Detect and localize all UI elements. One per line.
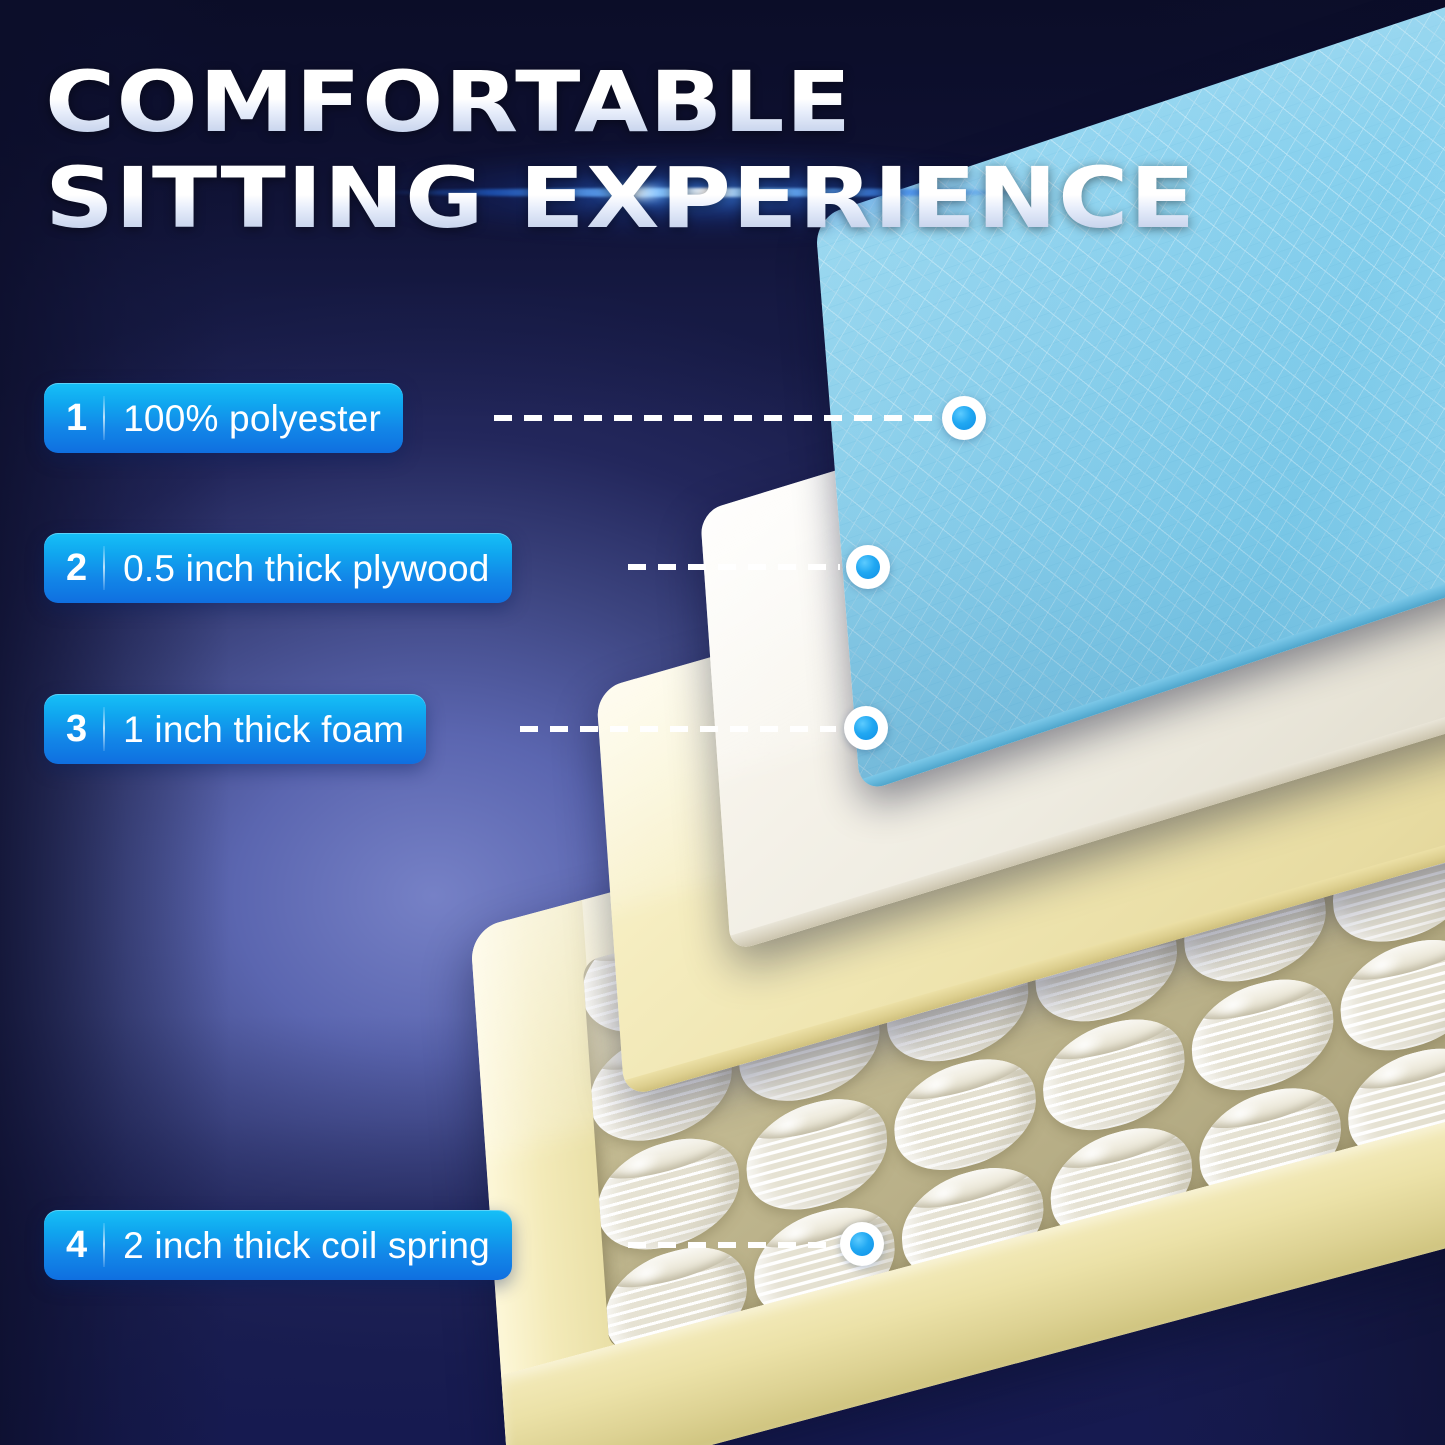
callout-badge-1[interactable]: 1 100% polyester: [44, 383, 403, 453]
callout-2[interactable]: 2 0.5 inch thick plywood: [44, 533, 512, 603]
callout-4[interactable]: 4 2 inch thick coil spring: [44, 1210, 512, 1280]
product-infographic: COMFORTABLE SITTING EXPERIENCE 1 100% po…: [0, 0, 1445, 1445]
callout-marker-4[interactable]: [840, 1222, 884, 1266]
callout-badge-4[interactable]: 4 2 inch thick coil spring: [44, 1210, 512, 1280]
callout-label-4: 2 inch thick coil spring: [123, 1227, 490, 1264]
callout-badge-2[interactable]: 2 0.5 inch thick plywood: [44, 533, 512, 603]
callout-list: 1 100% polyester 2 0.5 inch thick plywoo…: [0, 0, 1445, 1445]
callout-1[interactable]: 1 100% polyester: [44, 383, 403, 453]
callout-number-2: 2: [64, 549, 103, 587]
callout-divider: [103, 1223, 105, 1267]
callout-connector-1: [494, 415, 936, 421]
callout-number-1: 1: [64, 399, 103, 437]
callout-divider: [103, 396, 105, 440]
callout-badge-3[interactable]: 3 1 inch thick foam: [44, 694, 426, 764]
callout-connector-2: [628, 564, 840, 570]
callout-3[interactable]: 3 1 inch thick foam: [44, 694, 426, 764]
callout-connector-4: [628, 1242, 832, 1248]
callout-marker-1[interactable]: [942, 396, 986, 440]
callout-label-1: 100% polyester: [123, 400, 381, 437]
callout-divider: [103, 546, 105, 590]
callout-number-4: 4: [64, 1226, 103, 1264]
callout-number-3: 3: [64, 710, 103, 748]
callout-label-2: 0.5 inch thick plywood: [123, 550, 489, 587]
callout-connector-3: [520, 726, 836, 732]
callout-marker-2[interactable]: [846, 545, 890, 589]
callout-label-3: 1 inch thick foam: [123, 711, 404, 748]
callout-divider: [103, 707, 105, 751]
callout-marker-3[interactable]: [844, 706, 888, 750]
